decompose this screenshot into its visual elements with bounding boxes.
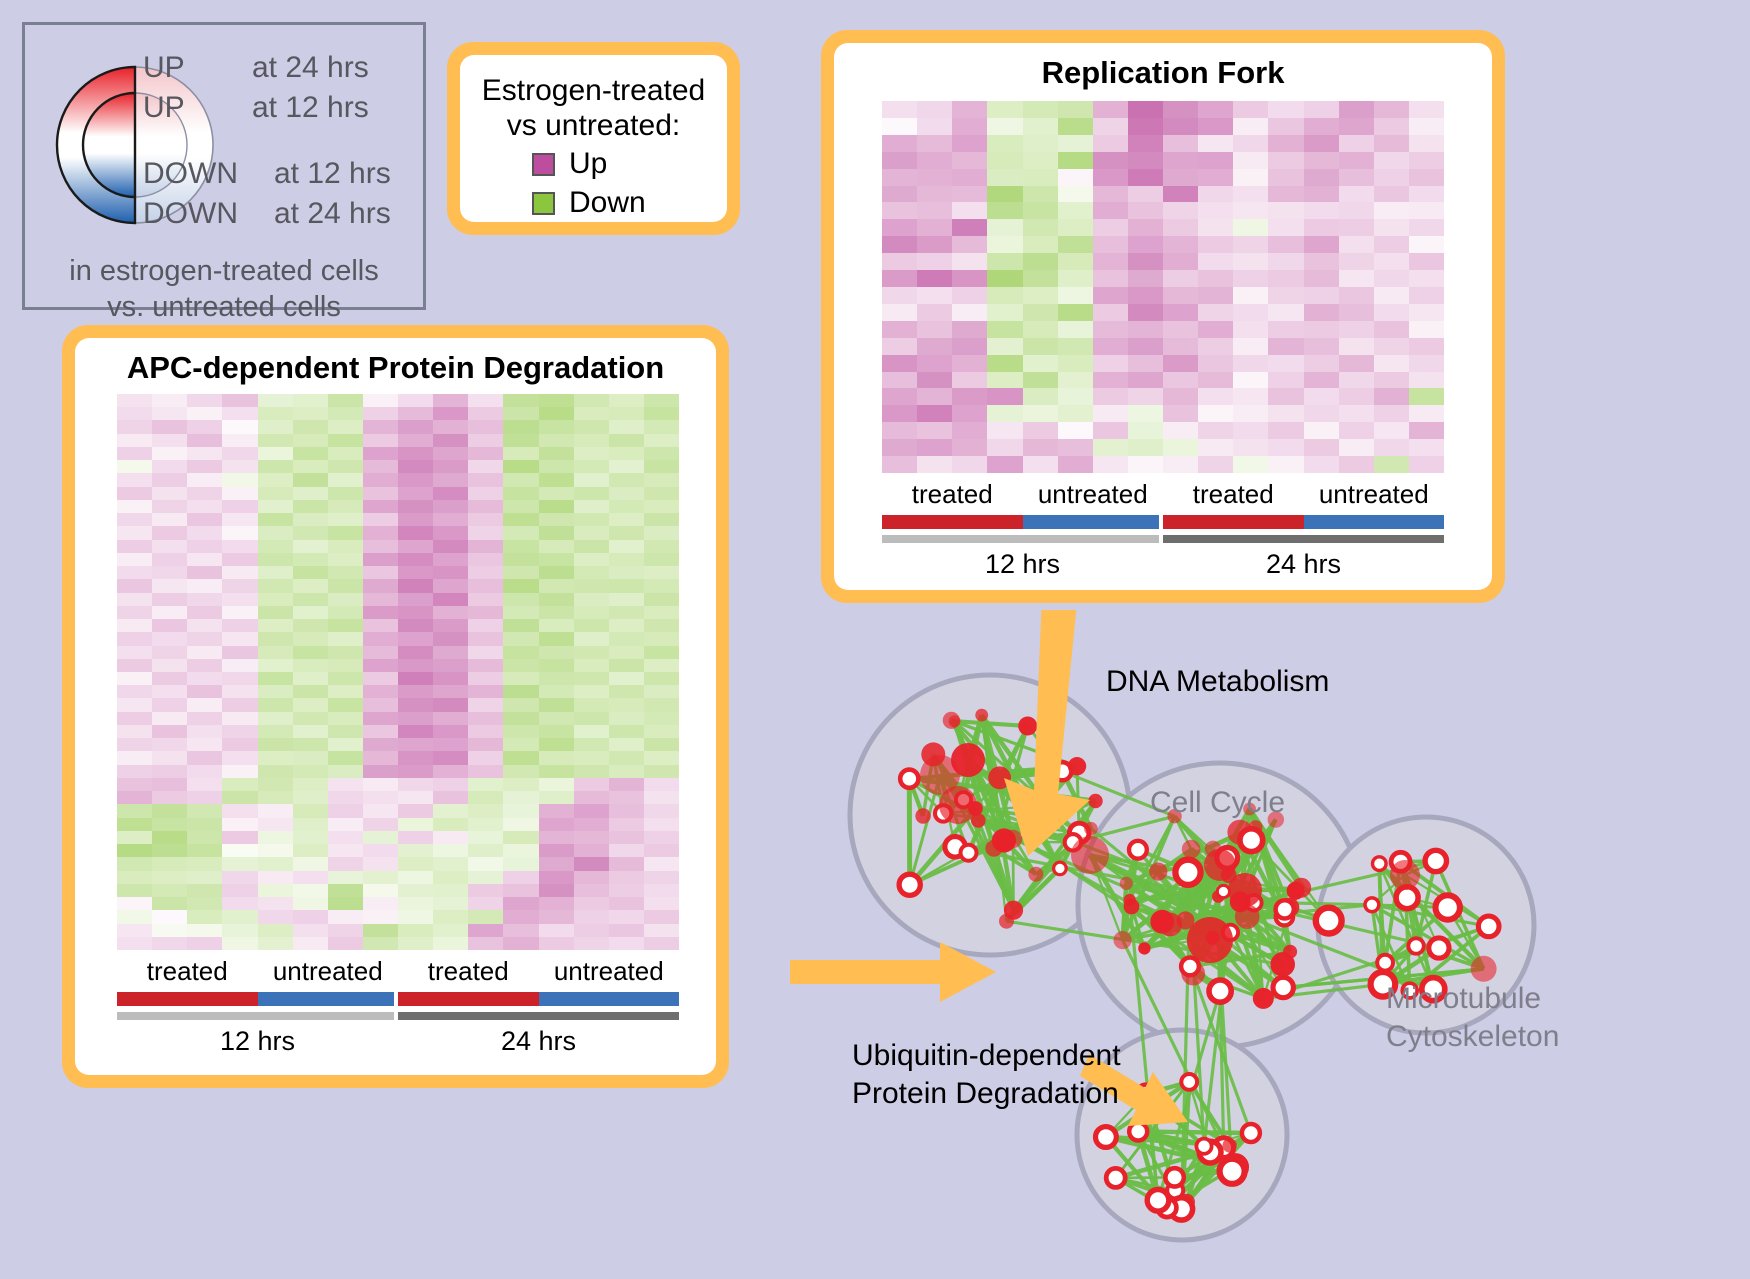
heatmap-cell	[1093, 135, 1128, 152]
heatmap-cell	[609, 751, 644, 764]
network-node[interactable]	[1114, 931, 1132, 949]
heatmap-cell	[1233, 355, 1268, 372]
heatmap-cell	[293, 937, 328, 950]
network-node[interactable]	[1165, 1168, 1183, 1186]
network-node[interactable]	[900, 770, 918, 788]
heatmap-cell	[1198, 152, 1233, 169]
heatmap-cell	[574, 593, 609, 606]
heatmap-cell	[539, 447, 574, 460]
heatmap-cell	[187, 725, 222, 738]
heatmap-cell	[468, 434, 503, 447]
heatmap-cell	[503, 831, 538, 844]
heatmap-cell	[258, 672, 293, 685]
heatmap-cell	[433, 540, 468, 553]
heatmap-cell	[1304, 304, 1339, 321]
heatmap-cell	[1093, 304, 1128, 321]
heatmap-cell	[152, 672, 187, 685]
color-key-caption-line2: vs. untreated cells	[25, 289, 423, 325]
heatmap-cell	[363, 434, 398, 447]
heatmap-time-label: 12 hrs	[882, 549, 1163, 580]
heatmap-cell	[644, 513, 679, 526]
heatmap-cell	[882, 219, 917, 236]
heatmap-cell	[503, 924, 538, 937]
heatmap-cell	[503, 844, 538, 857]
network-node[interactable]	[1429, 938, 1449, 958]
heatmap-cell	[987, 456, 1022, 473]
heatmap-cell	[363, 447, 398, 460]
heatmap-cell	[293, 712, 328, 725]
heatmap-cell	[433, 619, 468, 632]
network-node[interactable]	[1408, 938, 1423, 953]
heatmap-cell	[187, 394, 222, 407]
heatmap-cell	[644, 593, 679, 606]
heatmap-cell	[187, 659, 222, 672]
heatmap-cell	[1163, 270, 1198, 287]
heatmap-cell	[117, 407, 152, 420]
heatmap-cell	[222, 725, 257, 738]
heatmap-group-label: untreated	[1023, 479, 1164, 510]
network-node[interactable]	[1390, 860, 1420, 890]
heatmap-cell	[152, 738, 187, 751]
heatmap-cell	[503, 394, 538, 407]
heatmap-cell	[363, 778, 398, 791]
heatmap-cell	[433, 751, 468, 764]
heatmap-cell	[644, 460, 679, 473]
network-node[interactable]	[1396, 887, 1418, 909]
heatmap-cell	[574, 526, 609, 539]
network-node[interactable]	[1217, 885, 1229, 897]
heatmap-cell	[609, 778, 644, 791]
network-node[interactable]	[1365, 898, 1379, 912]
heatmap-cell	[222, 632, 257, 645]
heatmap-cell	[398, 500, 433, 513]
heatmap-cell	[952, 355, 987, 372]
network-node[interactable]	[1377, 955, 1393, 971]
heatmap-cell	[1339, 338, 1374, 355]
heatmap-cell	[363, 487, 398, 500]
heatmap-cell	[187, 473, 222, 486]
network-node[interactable]	[1242, 1124, 1260, 1142]
heatmap-cell	[574, 632, 609, 645]
network-node[interactable]	[1425, 850, 1446, 871]
network-node[interactable]	[1276, 900, 1294, 918]
heatmap-cell	[1023, 236, 1058, 253]
cluster-label-dna-metabolism: DNA Metabolism	[1106, 665, 1329, 699]
network-node[interactable]	[1220, 1159, 1245, 1184]
heatmap-cell	[1163, 321, 1198, 338]
network-node[interactable]	[1149, 863, 1167, 881]
network-node[interactable]	[985, 840, 1002, 857]
heatmap-cell	[987, 405, 1022, 422]
heatmap-cell	[987, 439, 1022, 456]
heatmap-cell	[609, 473, 644, 486]
heatmap-cell	[152, 765, 187, 778]
network-node[interactable]	[1436, 895, 1460, 919]
heatmap-cell	[363, 844, 398, 857]
heatmap-cell	[1339, 372, 1374, 389]
network-node[interactable]	[1124, 894, 1136, 906]
heatmap-cell	[1023, 270, 1058, 287]
network-node[interactable]	[1096, 1127, 1117, 1148]
heatmap-cell	[398, 553, 433, 566]
heatmap-cell	[433, 420, 468, 433]
heatmap-cell	[117, 434, 152, 447]
network-node[interactable]	[1223, 1138, 1237, 1152]
heatmap-cell	[1339, 456, 1374, 473]
heatmap-cell	[258, 937, 293, 950]
heatmap-cell	[1409, 253, 1444, 270]
heatmap-cell	[1198, 355, 1233, 372]
network-node[interactable]	[1478, 916, 1499, 937]
heatmap-cell	[433, 434, 468, 447]
heatmap-cell	[328, 685, 363, 698]
heatmap-cell	[293, 579, 328, 592]
heatmap-cell	[882, 236, 917, 253]
network-node[interactable]	[1240, 829, 1263, 852]
heatmap-cell	[363, 593, 398, 606]
heatmap-cell	[503, 804, 538, 817]
heatmap-cell	[539, 844, 574, 857]
heatmap-cell	[222, 924, 257, 937]
network-node[interactable]	[1084, 822, 1098, 836]
heatmap-cell	[917, 287, 952, 304]
heatmap-cell	[187, 526, 222, 539]
heatmap-cell	[574, 646, 609, 659]
heatmap-cell	[258, 420, 293, 433]
heatmap-cell	[503, 778, 538, 791]
heatmap-cell	[1128, 422, 1163, 439]
network-node[interactable]	[1071, 836, 1109, 874]
network-node[interactable]	[975, 709, 988, 722]
heatmap-cell	[1304, 287, 1339, 304]
heatmap-cell	[258, 791, 293, 804]
heatmap-cell	[328, 407, 363, 420]
heatmap-cell	[1058, 355, 1093, 372]
network-node[interactable]	[1054, 862, 1067, 875]
heatmap-cell	[1058, 405, 1093, 422]
heatmap-cell	[1304, 405, 1339, 422]
heatmap-cell	[987, 152, 1022, 169]
heatmap-cell	[152, 619, 187, 632]
heatmap-cell	[433, 606, 468, 619]
heatmap-cell	[574, 804, 609, 817]
heatmap-cell	[1023, 338, 1058, 355]
network-node[interactable]	[915, 808, 930, 823]
heatmap-cell	[328, 778, 363, 791]
heatmap-cell	[1374, 287, 1409, 304]
heatmap-cell	[1339, 253, 1374, 270]
heatmap-cell	[222, 698, 257, 711]
heatmap-cell	[1233, 202, 1268, 219]
network-node[interactable]	[1028, 867, 1043, 882]
network-node[interactable]	[1181, 1074, 1197, 1090]
heatmap-cell	[539, 698, 574, 711]
heatmap-cell	[398, 447, 433, 460]
heatmap-cell	[117, 871, 152, 884]
network-node[interactable]	[1018, 717, 1037, 736]
heatmap-cell	[363, 937, 398, 950]
heatmap-cell	[503, 712, 538, 725]
heatmap-cell	[539, 420, 574, 433]
heatmap-cell	[328, 606, 363, 619]
heatmap-cell	[152, 844, 187, 857]
heatmap-cell	[609, 500, 644, 513]
network-node[interactable]	[1204, 849, 1236, 881]
heatmap-cell	[917, 202, 952, 219]
heatmap-cell	[1058, 304, 1093, 321]
heatmap-cell	[433, 884, 468, 897]
heatmap-cell	[574, 765, 609, 778]
heatmap-cell	[293, 434, 328, 447]
network-node[interactable]	[961, 845, 977, 861]
network-node[interactable]	[1106, 1168, 1125, 1187]
heatmap-cell	[152, 566, 187, 579]
heatmap-cell	[644, 473, 679, 486]
heatmap-cell	[1409, 321, 1444, 338]
network-node[interactable]	[1088, 794, 1102, 808]
heatmap-cell	[1023, 388, 1058, 405]
heatmap-cell	[468, 632, 503, 645]
heatmap-cell	[433, 659, 468, 672]
heatmap-cell	[917, 338, 952, 355]
heatmap-cell	[1304, 135, 1339, 152]
heatmap-cell	[187, 765, 222, 778]
heatmap-cell	[1339, 287, 1374, 304]
heatmap-cell	[363, 897, 398, 910]
heatmap-cell	[503, 751, 538, 764]
heatmap-cell	[1163, 355, 1198, 372]
heatmap-cell	[222, 818, 257, 831]
heatmap-cell	[1163, 439, 1198, 456]
heatmap-cell	[328, 804, 363, 817]
heatmap-cell	[503, 460, 538, 473]
network-node[interactable]	[1471, 956, 1497, 982]
heatmap-cell	[1093, 388, 1128, 405]
heatmap-cell	[1058, 152, 1093, 169]
heatmap-cell	[152, 871, 187, 884]
heatmap-cell	[1023, 152, 1058, 169]
network-node[interactable]	[1182, 840, 1201, 859]
heatmap-cell	[644, 712, 679, 725]
heatmap-cell	[293, 884, 328, 897]
heatmap-cell	[258, 526, 293, 539]
heatmap-cell	[187, 420, 222, 433]
heatmap-cell	[293, 765, 328, 778]
heatmap-cell	[187, 606, 222, 619]
heatmap-cell	[187, 407, 222, 420]
heatmap-cell	[152, 487, 187, 500]
heatmap-cell	[293, 500, 328, 513]
heatmap-cell	[398, 593, 433, 606]
network-node[interactable]	[1273, 977, 1293, 997]
heatmap-cell	[574, 937, 609, 950]
heatmap-cell	[152, 751, 187, 764]
heatmap-cell	[574, 791, 609, 804]
heatmap-cell	[644, 540, 679, 553]
heatmap-cell	[917, 355, 952, 372]
heatmap-cell	[1058, 202, 1093, 219]
heatmap-cell	[609, 420, 644, 433]
heatmap-cell	[187, 924, 222, 937]
heatmap-cell	[222, 871, 257, 884]
heatmap-cell	[363, 685, 398, 698]
heatmap-cell	[1128, 135, 1163, 152]
heatmap-cell	[574, 500, 609, 513]
heatmap-cell	[187, 672, 222, 685]
heatmap-cell	[363, 884, 398, 897]
heatmap-group-label: treated	[1163, 479, 1304, 510]
heatmap-cell	[152, 632, 187, 645]
heatmap-cell	[1409, 202, 1444, 219]
heatmap-cell	[1128, 270, 1163, 287]
heatmap-cell	[1163, 118, 1198, 135]
network-node[interactable]	[899, 874, 920, 895]
heatmap-cell	[258, 473, 293, 486]
heatmap-cell	[1304, 439, 1339, 456]
network-node[interactable]	[1373, 857, 1387, 871]
heatmap-cell	[644, 831, 679, 844]
heatmap-cell	[1058, 422, 1093, 439]
heatmap-cell	[117, 685, 152, 698]
heatmap-cell	[222, 751, 257, 764]
heatmap-cell	[222, 791, 257, 804]
heatmap-cell	[644, 394, 679, 407]
heatmap-cell	[1058, 236, 1093, 253]
heatmap-cell	[152, 553, 187, 566]
heatmap-cell	[539, 394, 574, 407]
heatmap-cell	[398, 924, 433, 937]
heatmap-cell	[293, 818, 328, 831]
heatmap-cell	[468, 844, 503, 857]
heatmap-cell	[468, 884, 503, 897]
network-node[interactable]	[1175, 860, 1200, 885]
heatmap-cell	[433, 765, 468, 778]
heatmap-cell	[1128, 152, 1163, 169]
heatmap-cell	[363, 791, 398, 804]
heatmap-cell	[293, 698, 328, 711]
heatmap-cell	[258, 804, 293, 817]
heatmap-cell	[1304, 321, 1339, 338]
heatmap-cell	[398, 420, 433, 433]
network-node[interactable]	[1147, 1190, 1169, 1212]
heatmap-cell	[1339, 101, 1374, 118]
network-node[interactable]	[1283, 945, 1297, 959]
heatmap-cell	[433, 897, 468, 910]
heatmap-cell	[574, 712, 609, 725]
heatmap-cell	[987, 304, 1022, 321]
network-node[interactable]	[951, 743, 985, 777]
heatmap-cell	[1374, 186, 1409, 203]
heatmap-cell	[609, 487, 644, 500]
network-node[interactable]	[1181, 958, 1199, 976]
network-node[interactable]	[1287, 882, 1305, 900]
heatmap-cell	[363, 738, 398, 751]
heatmap-cell	[952, 304, 987, 321]
network-node[interactable]	[939, 786, 977, 824]
heatmap-cell	[609, 725, 644, 738]
heatmap-cell	[152, 778, 187, 791]
network-node[interactable]	[1138, 942, 1150, 954]
network-node[interactable]	[949, 715, 961, 727]
heatmap-cell	[644, 553, 679, 566]
heatmap-cell	[222, 765, 257, 778]
heatmap-cell	[503, 487, 538, 500]
heatmap-cell	[1023, 219, 1058, 236]
heatmap-cell	[503, 619, 538, 632]
heatmap-cell	[433, 698, 468, 711]
heatmap-cell	[574, 672, 609, 685]
heatmap-cell	[1128, 355, 1163, 372]
heatmap-cell	[609, 831, 644, 844]
heatmap-cell	[222, 540, 257, 553]
heatmap-cell	[187, 857, 222, 870]
network-node[interactable]	[1316, 908, 1342, 934]
heatmap-cell	[328, 526, 363, 539]
heatmap-cell	[117, 579, 152, 592]
heatmap-cell	[987, 118, 1022, 135]
network-node[interactable]	[1253, 988, 1274, 1009]
apc-group-labels: treateduntreatedtreateduntreated	[117, 956, 679, 987]
network-node[interactable]	[1120, 877, 1133, 890]
heatmap-cell	[468, 619, 503, 632]
heatmap-cell	[503, 593, 538, 606]
heatmap-cell	[574, 818, 609, 831]
heatmap-cell	[1198, 202, 1233, 219]
network-node[interactable]	[1187, 917, 1233, 963]
heatmap-cell	[952, 422, 987, 439]
heatmap-cell	[398, 725, 433, 738]
heatmap-cell	[433, 844, 468, 857]
heatmap-cell	[574, 487, 609, 500]
heatmap-cell	[363, 540, 398, 553]
heatmap-cell	[609, 685, 644, 698]
heatmap-cell	[609, 897, 644, 910]
heatmap-cell	[609, 924, 644, 937]
heatmap-cell	[1198, 304, 1233, 321]
heatmap-cell	[433, 804, 468, 817]
heatmap-cell	[1058, 388, 1093, 405]
heatmap-cell	[609, 460, 644, 473]
heatmap-cell	[1304, 236, 1339, 253]
network-node[interactable]	[1196, 1139, 1211, 1154]
heatmap-cell	[1198, 439, 1233, 456]
network-node[interactable]	[1068, 757, 1086, 775]
heatmap-cell	[1023, 101, 1058, 118]
heatmap-cell	[363, 871, 398, 884]
heatmap-cell	[1058, 186, 1093, 203]
heatmap-cell	[1163, 304, 1198, 321]
heatmap-cell	[187, 513, 222, 526]
legend-title-line1: Estrogen-treated	[460, 73, 727, 108]
heatmap-cell	[539, 897, 574, 910]
heatmap-cell	[293, 553, 328, 566]
heatmap-cell	[1268, 169, 1303, 186]
heatmap-cell	[987, 355, 1022, 372]
network-node[interactable]	[1129, 841, 1147, 859]
network-node[interactable]	[1209, 980, 1231, 1002]
heatmap-group-label: treated	[398, 956, 539, 987]
heatmap-cell	[882, 355, 917, 372]
heatmap-cell	[187, 910, 222, 923]
heatmap-cell	[1163, 422, 1198, 439]
heatmap-cell	[1198, 101, 1233, 118]
heatmap-cell	[258, 513, 293, 526]
heatmap-cell	[917, 321, 952, 338]
heatmap-cell	[117, 937, 152, 950]
heatmap-cell	[917, 372, 952, 389]
network-node[interactable]	[1228, 873, 1262, 907]
network-node[interactable]	[1004, 901, 1023, 920]
